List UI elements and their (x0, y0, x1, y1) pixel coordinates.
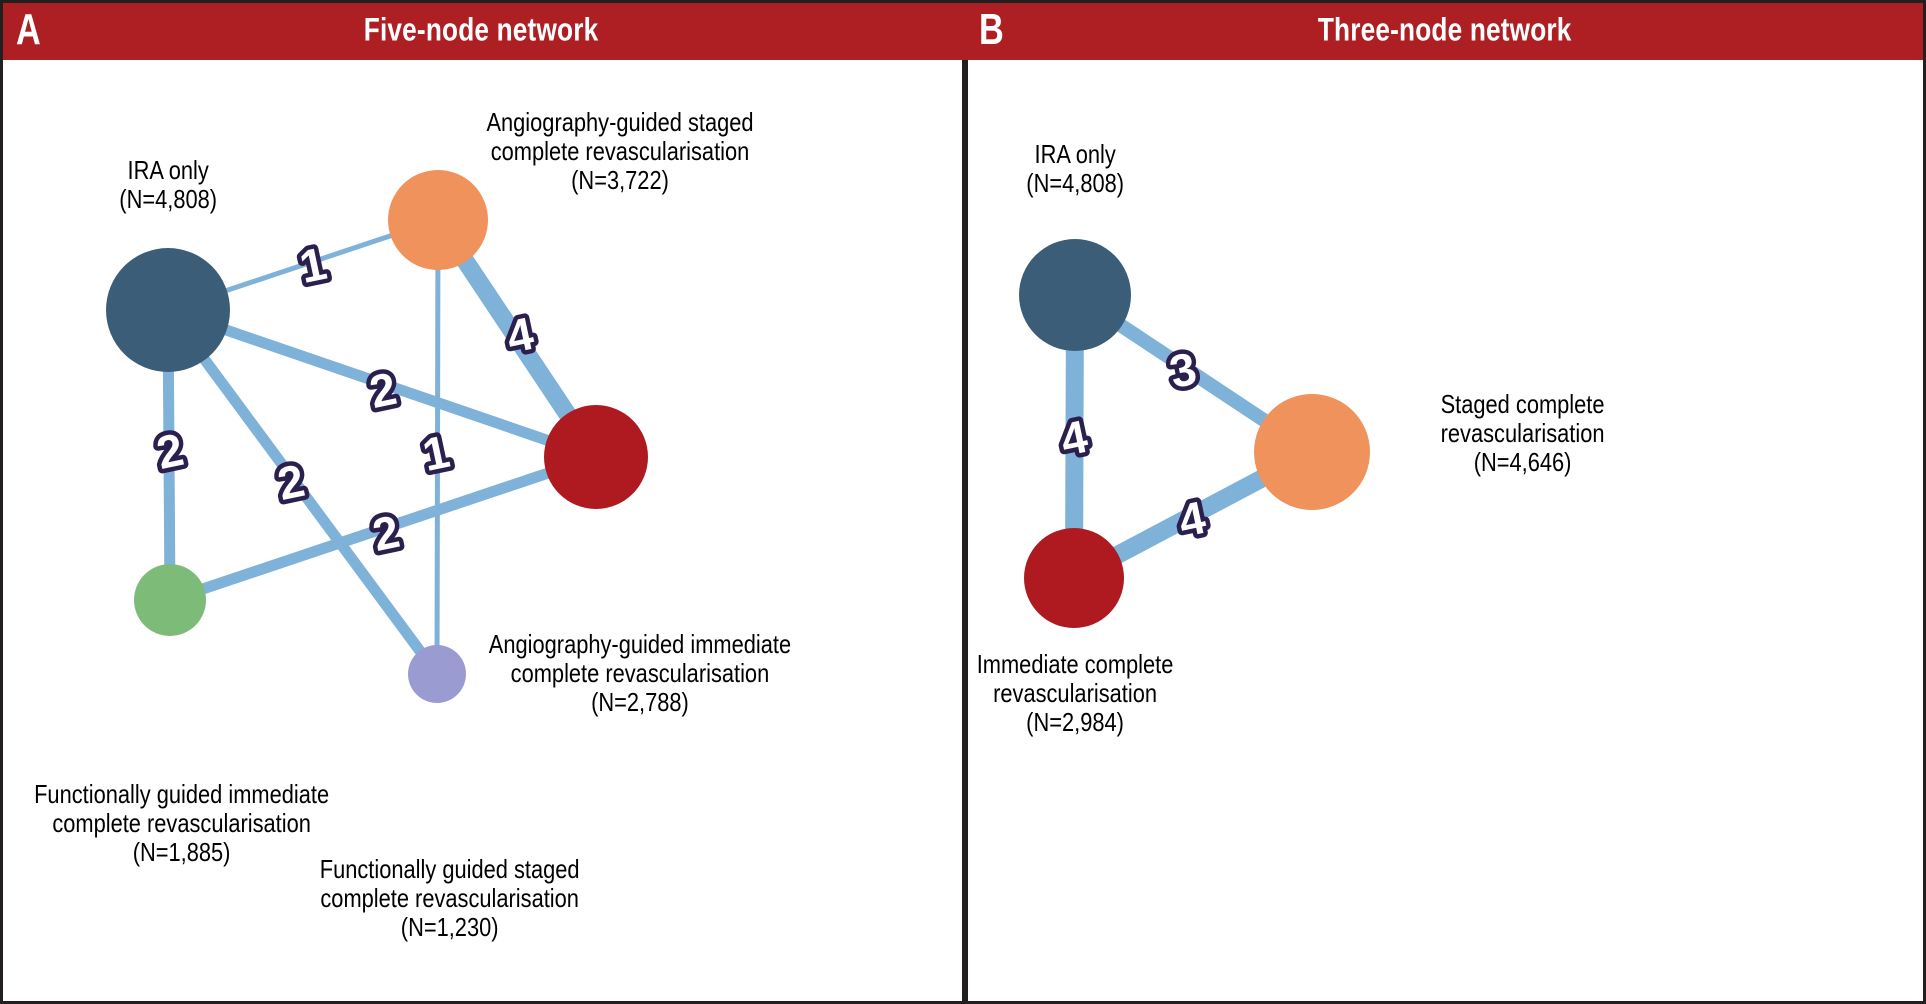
node-label-angio-immediate-a: Angiography-guided immediate complete re… (440, 630, 840, 717)
node-label-func-staged-a: Functionally guided staged complete reva… (260, 855, 640, 942)
panel-b-network: 334444 IRA only (N=4,808) Staged complet… (968, 60, 1926, 1004)
edge-label: 11 (418, 425, 454, 481)
edge-label: 11 (295, 237, 331, 293)
figure-root: A Five-node network B Three-node network… (0, 0, 1926, 1004)
graph-node-ira[interactable] (1019, 239, 1131, 351)
graph-node-angio_immediate[interactable] (544, 405, 648, 509)
node-label-ira-a: IRA only (N=4,808) (48, 156, 288, 214)
node-label-angio-staged-a: Angiography-guided staged complete revas… (455, 108, 785, 195)
edge-label: 44 (1056, 410, 1092, 466)
panel-b-title: Three-node network (963, 12, 1926, 49)
edge-label: 44 (502, 307, 538, 363)
panel-a-banner: A Five-node network (0, 0, 963, 60)
graph-node-staged[interactable] (1254, 394, 1370, 510)
svg-text:2: 2 (365, 362, 401, 418)
panel-a-title: Five-node network (0, 12, 963, 49)
panel-a-network: 11442211222222 IRA only (N=4,808) Angiog… (0, 60, 962, 1004)
svg-text:1: 1 (418, 425, 454, 481)
edge-label: 22 (152, 423, 188, 479)
svg-text:2: 2 (152, 423, 188, 479)
node-label-staged-b: Staged complete revascularisation (N=4,6… (1378, 390, 1668, 477)
node-label-immediate-b: Immediate complete revascularisation (N=… (930, 650, 1220, 737)
graph-node-immediate[interactable] (1024, 528, 1124, 628)
edge-label: 22 (368, 505, 404, 561)
svg-text:4: 4 (502, 307, 538, 363)
node-label-ira-b: IRA only (N=4,808) (955, 140, 1195, 198)
svg-text:3: 3 (1165, 342, 1201, 398)
panel-divider (962, 60, 968, 1004)
panel-b-graph: 334444 (968, 60, 1926, 1004)
edge-label: 22 (365, 362, 401, 418)
svg-text:4: 4 (1056, 410, 1092, 466)
graph-node-func_immediate[interactable] (134, 564, 206, 636)
edge-label: 33 (1165, 342, 1201, 398)
svg-text:1: 1 (295, 237, 331, 293)
svg-text:2: 2 (368, 505, 404, 561)
edge-label: 22 (273, 454, 309, 510)
svg-text:2: 2 (273, 454, 309, 510)
panel-b-banner: B Three-node network (963, 0, 1926, 60)
graph-node-ira[interactable] (106, 248, 230, 372)
